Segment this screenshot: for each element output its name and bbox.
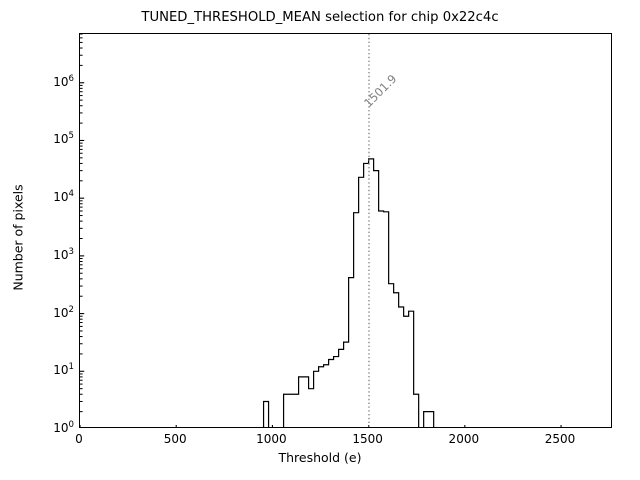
page-title: TUNED_THRESHOLD_MEAN selection for chip …	[0, 10, 640, 25]
histogram-step-line	[209, 159, 499, 428]
histogram-figure: TUNED_THRESHOLD_MEAN selection for chip …	[0, 0, 640, 480]
y-tick-label: 102	[53, 306, 74, 320]
x-tick-label: 1500	[352, 432, 383, 446]
histogram-canvas	[80, 34, 612, 428]
x-tick-label: 0	[75, 432, 83, 446]
y-tick-label: 103	[53, 248, 74, 262]
x-tick-label: 1000	[256, 432, 287, 446]
x-axis-label: Threshold (e)	[0, 450, 640, 465]
axis-ticks	[80, 34, 561, 428]
y-tick-label: 104	[53, 190, 74, 204]
y-tick-label: 105	[53, 132, 74, 146]
x-tick-label: 2500	[545, 432, 576, 446]
y-tick-label: 101	[53, 363, 74, 377]
y-axis-label: Number of pixels	[11, 138, 26, 338]
plot-area: 1501.9	[79, 33, 612, 428]
x-tick-label: 500	[164, 432, 187, 446]
x-tick-label: 2000	[449, 432, 480, 446]
y-tick-label: 100	[53, 421, 74, 435]
y-tick-label: 106	[53, 75, 74, 89]
